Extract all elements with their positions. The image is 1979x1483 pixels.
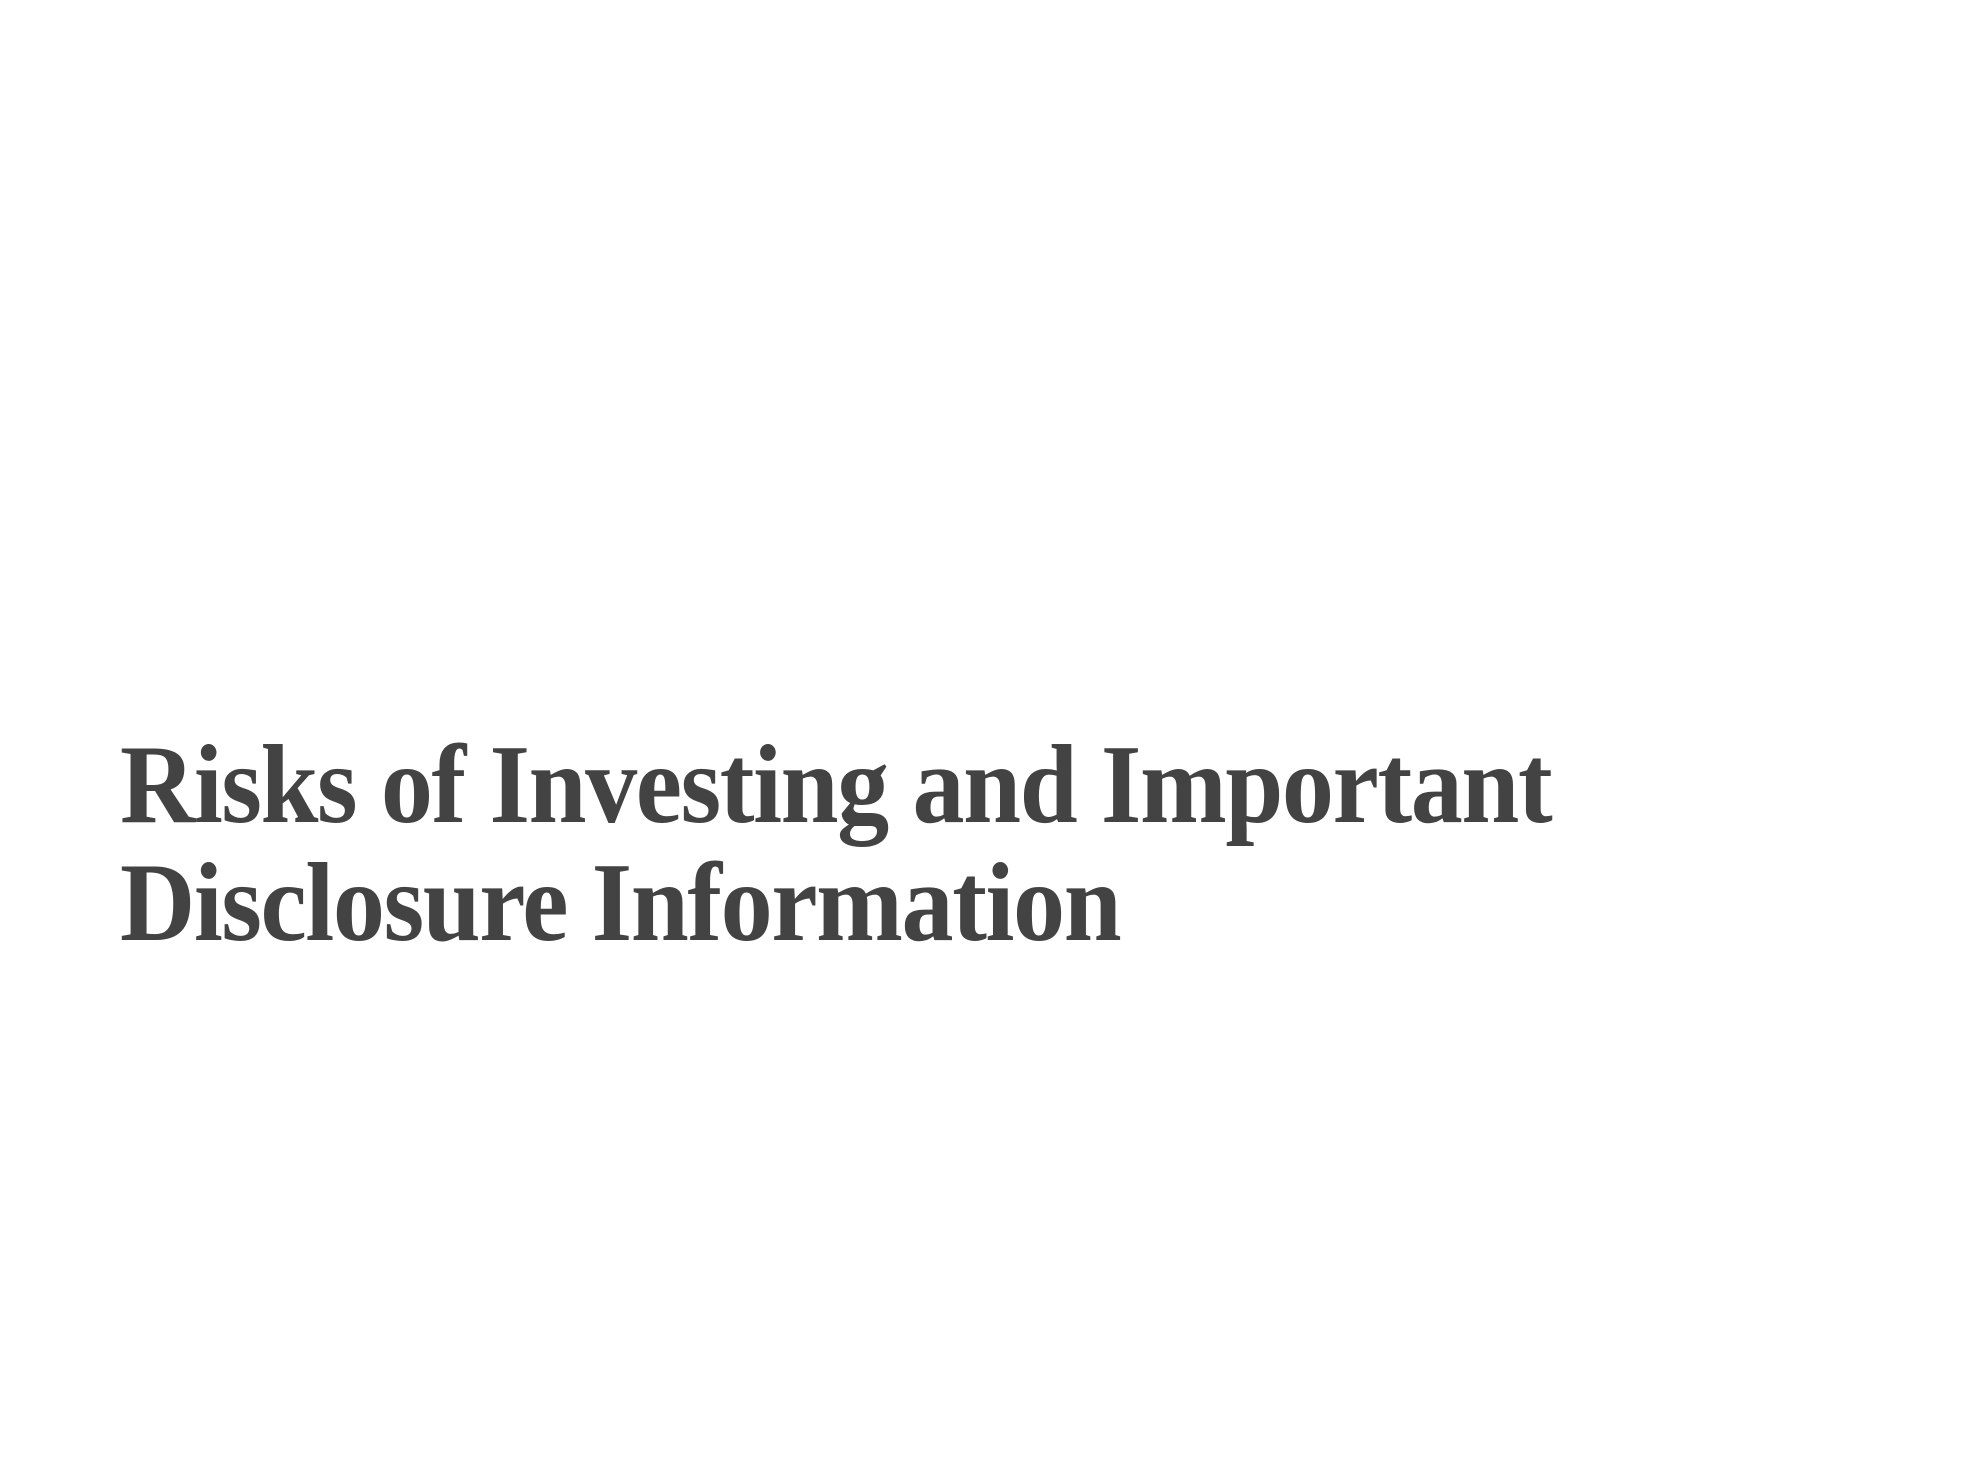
- slide-canvas: Risks of Investing and Important Disclos…: [0, 0, 1979, 1483]
- page-title-line-1: Risks of Investing and Important: [120, 726, 1701, 844]
- page-title: Risks of Investing and Important Disclos…: [120, 726, 1820, 962]
- slide-footer: MASTERWORKS THIS PRESENTATION IS BEING C…: [0, 1362, 1979, 1482]
- page-title-line-2: Disclosure Information: [120, 844, 1701, 962]
